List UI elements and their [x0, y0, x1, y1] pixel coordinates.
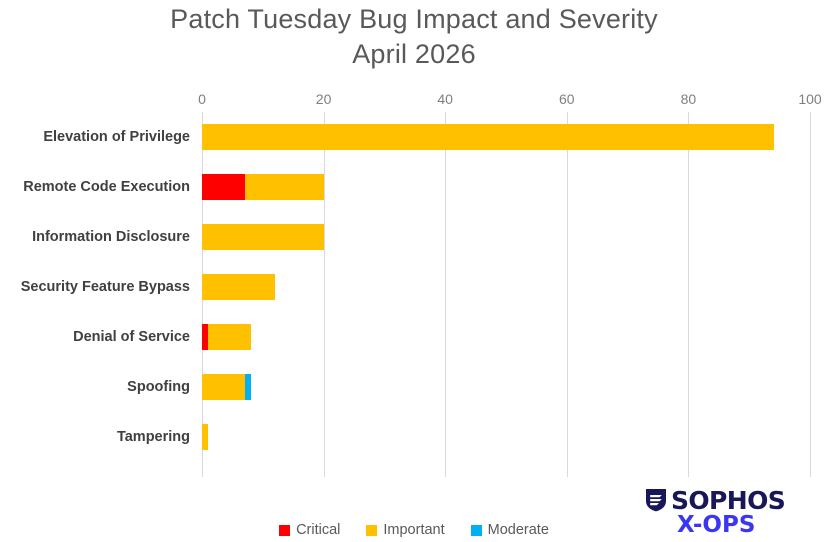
bar-stack: [202, 124, 774, 150]
bar-track: [202, 162, 810, 212]
legend-item-critical[interactable]: Critical: [279, 521, 340, 539]
x-tick-label-40: 40: [437, 90, 453, 108]
bar-segment-important[interactable]: [202, 374, 245, 400]
category-label-security-feature-bypass: Security Feature Bypass: [0, 262, 192, 312]
shield-icon: [645, 488, 667, 512]
legend-swatch-moderate: [471, 525, 482, 536]
x-tick-label-60: 60: [559, 90, 575, 108]
bar-track: [202, 262, 810, 312]
legend-label-critical: Critical: [296, 521, 340, 539]
x-axis-tick-labels: 020406080100: [0, 90, 828, 110]
chart-row: Spoofing: [0, 362, 828, 412]
bar-stack: [202, 424, 208, 450]
bar-stack: [202, 274, 275, 300]
bar-track: [202, 212, 810, 262]
chart-title-line2: April 2026: [0, 37, 828, 72]
legend-swatch-important: [366, 525, 377, 536]
bar-segment-important[interactable]: [245, 174, 324, 200]
logo-wordmark: SOPHOS: [671, 488, 785, 513]
category-label-remote-code-execution: Remote Code Execution: [0, 162, 192, 212]
bar-track: [202, 312, 810, 362]
logo-top-row: SOPHOS: [645, 487, 817, 513]
logo-subbrand: X-OPS: [677, 513, 817, 537]
chart-row: Denial of Service: [0, 312, 828, 362]
legend-item-important[interactable]: Important: [366, 521, 444, 539]
chart-title-line1: Patch Tuesday Bug Impact and Severity: [170, 4, 658, 34]
bar-track: [202, 362, 810, 412]
chart-row: Remote Code Execution: [0, 162, 828, 212]
chart-row: Information Disclosure: [0, 212, 828, 262]
bar-segment-important[interactable]: [208, 324, 251, 350]
x-tick-label-0: 0: [198, 90, 206, 108]
bar-segment-important[interactable]: [202, 124, 774, 150]
sophos-xops-logo: SOPHOS X-OPS: [645, 487, 817, 539]
category-label-denial-of-service: Denial of Service: [0, 312, 192, 362]
category-label-tampering: Tampering: [0, 412, 192, 462]
x-tick-label-20: 20: [316, 90, 332, 108]
chart-row: Elevation of Privilege: [0, 112, 828, 162]
bar-segment-important[interactable]: [202, 274, 275, 300]
bar-track: [202, 412, 810, 462]
category-label-spoofing: Spoofing: [0, 362, 192, 412]
chart-row: Security Feature Bypass: [0, 262, 828, 312]
page-title: Patch Tuesday Bug Impact and Severity Ap…: [0, 2, 828, 72]
x-tick-label-80: 80: [681, 90, 697, 108]
legend-label-important: Important: [383, 521, 444, 539]
bar-stack: [202, 224, 324, 250]
category-label-elevation-of-privilege: Elevation of Privilege: [0, 112, 192, 162]
bar-stack: [202, 374, 251, 400]
x-tick-label-100: 100: [798, 90, 821, 108]
bar-track: [202, 112, 810, 162]
bar-segment-moderate[interactable]: [245, 374, 251, 400]
legend-swatch-critical: [279, 525, 290, 536]
legend-item-moderate[interactable]: Moderate: [471, 521, 549, 539]
bar-stack: [202, 324, 251, 350]
category-label-information-disclosure: Information Disclosure: [0, 212, 192, 262]
chart-row: Tampering: [0, 412, 828, 462]
legend-label-moderate: Moderate: [488, 521, 549, 539]
bar-segment-important[interactable]: [202, 424, 208, 450]
bar-stack: [202, 174, 324, 200]
bar-segment-important[interactable]: [202, 224, 324, 250]
bar-segment-critical[interactable]: [202, 174, 245, 200]
